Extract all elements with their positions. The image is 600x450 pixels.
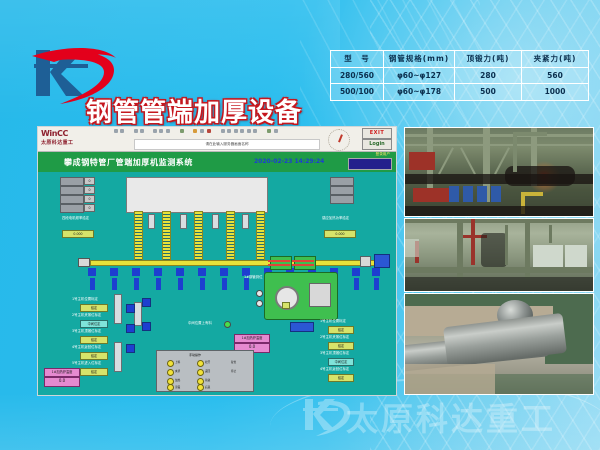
valve-icon-1 <box>126 304 135 313</box>
right-value-4[interactable]: 给定 <box>328 374 354 382</box>
help-icon[interactable] <box>274 129 278 133</box>
roller-7 <box>220 268 228 276</box>
toolbar-sep <box>174 129 177 133</box>
page-title: 钢管管端加厚设备 <box>86 92 302 129</box>
new-icon[interactable] <box>114 129 118 133</box>
power-label-box-3 <box>330 195 354 204</box>
valve-icon-3 <box>126 344 135 353</box>
login-button[interactable]: Login <box>362 139 392 150</box>
roller-stand-14 <box>374 278 379 290</box>
table-icon[interactable] <box>227 129 231 133</box>
clamp-cylinder <box>290 322 314 332</box>
coil-cylinder-3 <box>212 214 219 229</box>
slide-page: 钢管管端加厚设备 型 号 钢管规格(mm) 顶锻力(吨) 夹紧力(吨) 280/… <box>0 0 600 450</box>
mid-value-3[interactable]: 给定 <box>80 336 108 344</box>
sensor-led-center <box>224 321 231 328</box>
coil-cylinder-4 <box>242 214 249 229</box>
roller-stand-1 <box>90 278 95 290</box>
hmi-toolbar: WinCC 太原科达重工 <box>38 127 396 152</box>
roller-stand-5 <box>178 278 183 290</box>
power-label-box-2 <box>330 186 354 195</box>
zoom-icon[interactable] <box>180 129 184 133</box>
search-icon[interactable] <box>267 129 271 133</box>
induction-coil-1 <box>134 211 143 262</box>
induction-coil-4 <box>226 211 235 262</box>
mid-label-5: 5号主机进入位标定 <box>72 362 101 365</box>
panel-button-10[interactable]: 停止 <box>231 369 236 373</box>
trend-icon[interactable] <box>247 129 251 133</box>
roller-stand-2 <box>112 278 117 290</box>
mid-label-2: 2号主机夹紧位标定 <box>72 314 101 317</box>
freq-value-4[interactable]: 0 <box>84 204 95 212</box>
roller-stand-4 <box>156 278 161 290</box>
clock-icon <box>328 129 350 151</box>
machine-panel <box>309 283 331 307</box>
sensor-led-coil-2 <box>256 300 263 307</box>
panel-led-8[interactable] <box>197 384 204 391</box>
panel-button-7[interactable]: 前进 <box>205 378 210 382</box>
induction-coil-3 <box>194 211 203 262</box>
machine-bar-3 <box>292 260 314 262</box>
right-label-4: 4号主机返回位标定 <box>320 368 349 371</box>
conveyor-rail <box>90 260 376 266</box>
photo-pipe-closeup <box>404 293 594 395</box>
roller-4 <box>154 268 162 276</box>
panel-button-3[interactable]: 加热 <box>175 378 180 382</box>
report-icon[interactable] <box>253 129 257 133</box>
address-input[interactable]: 请在此输入服务器画面名称 <box>134 139 320 150</box>
mid-value-1[interactable]: 给定 <box>80 304 108 312</box>
forward-icon[interactable] <box>159 129 163 133</box>
mid-value-5[interactable]: 给定 <box>80 368 108 376</box>
photo-production-line <box>404 127 594 217</box>
col-header-upset-force: 顶锻力(吨) <box>455 51 522 68</box>
mid-label-1: 1号主机位置标定 <box>72 298 98 301</box>
panel-led-4[interactable] <box>167 384 174 391</box>
hmi-process-view: 四段电机频率给定 0 0 0 0 0.000 感应加热功率给定 0.000 <box>38 172 396 396</box>
induction-coil-2 <box>162 211 171 262</box>
cylinder-1 <box>114 294 122 324</box>
roller-stand-8 <box>244 278 249 290</box>
login-user-field[interactable] <box>348 158 392 170</box>
panel-button-6[interactable]: 返回 <box>205 369 210 373</box>
panel-button-2[interactable]: 夹紧 <box>175 369 180 373</box>
toolbar-sep <box>147 129 150 133</box>
panel-led-2[interactable] <box>167 369 174 376</box>
freq-value-1[interactable]: 0 <box>84 177 95 185</box>
cell-pipe-spec: φ60~φ178 <box>384 84 455 101</box>
sensor-label-center: 中间位置上有料 <box>188 322 212 325</box>
col-header-pipe-spec: 钢管规格(mm) <box>384 51 455 68</box>
left-group-label: 四段电机频率给定 <box>62 217 89 220</box>
cell-model: 500/100 <box>331 84 384 101</box>
cell-clamp-force: 560 <box>522 67 589 84</box>
inlet-valve-icon <box>78 258 90 267</box>
col-header-clamp-force: 夹紧力(吨) <box>522 51 589 68</box>
heater-label-left: 1#加热炉温度 <box>44 368 80 377</box>
grid-icon[interactable] <box>221 129 225 133</box>
wincc-company-name: 太原科达重工 <box>41 139 109 146</box>
machine-bar-4 <box>292 264 314 266</box>
toolbar-icon-strip[interactable] <box>114 129 314 137</box>
roller-stand-7 <box>222 278 227 290</box>
freq-label-box-2 <box>60 186 84 195</box>
mid-value-4[interactable]: 给定 <box>80 352 108 360</box>
panel-led-6[interactable] <box>197 369 204 376</box>
back-icon[interactable] <box>153 129 157 133</box>
user-icon[interactable] <box>207 129 211 133</box>
photo-image-3 <box>405 294 593 394</box>
roller-1 <box>88 268 96 276</box>
mid-label-3: 3号主机顶锻位标定 <box>72 330 101 333</box>
roller-14 <box>372 268 380 276</box>
right-value-3[interactable]: 中间位定 <box>328 358 354 366</box>
mid-value-2[interactable]: 中间位定 <box>80 320 108 328</box>
manual-operation-panel: 手动操作 上料 夹紧 加热 顶锻 松开 返回 前进 后退 复位 停止 <box>156 350 254 392</box>
panel-led-1[interactable] <box>167 360 174 367</box>
heater-value-left[interactable]: 0.0 <box>44 377 80 387</box>
save-icon[interactable] <box>134 129 138 133</box>
freq-label-box-3 <box>60 195 84 204</box>
chart-icon[interactable] <box>234 129 238 133</box>
open-icon[interactable] <box>120 129 124 133</box>
panel-button-5[interactable]: 松开 <box>205 360 210 364</box>
roller-stand-13 <box>354 278 359 290</box>
toolbar-sep <box>261 129 264 133</box>
coil-cylinder-1 <box>148 214 155 229</box>
table-header-row: 型 号 钢管规格(mm) 顶锻力(吨) 夹紧力(吨) <box>331 51 589 68</box>
cylinder-2 <box>114 342 122 372</box>
alarm-icon[interactable] <box>240 129 244 133</box>
roller-stand-3 <box>134 278 139 290</box>
photo-image-2 <box>405 219 593 291</box>
machine-block-2 <box>294 256 316 270</box>
machine-small-value[interactable] <box>282 302 290 309</box>
panel-title: 手动操作 <box>189 353 201 357</box>
right-label-2: 2号主机夹紧位标定 <box>320 336 349 339</box>
cell-model: 280/560 <box>331 67 384 84</box>
induction-coil-5 <box>256 211 265 262</box>
hmi-screenshot: WinCC 太原科达重工 <box>37 126 397 396</box>
refresh-icon[interactable] <box>166 129 170 133</box>
photo-machine-hall <box>404 218 594 292</box>
hmi-title-bar: 攀成钢特管厂管端加厚机监测系统 2020-02-23 14:29:24 登录用户 <box>38 152 396 172</box>
watermark: 太原科达重工 <box>300 392 600 440</box>
sensor-led-coil-1 <box>256 290 263 297</box>
hmi-timestamp: 2020-02-23 14:29:24 <box>254 158 324 165</box>
upsetting-machine <box>264 272 338 320</box>
machine-bar-1 <box>268 260 290 262</box>
freq-value-2[interactable]: 0 <box>84 186 95 194</box>
watermark-text: 太原科达重工 <box>346 394 556 440</box>
photo-image-1 <box>405 128 593 216</box>
valve-icon-2 <box>126 324 135 333</box>
cylinder-3 <box>134 302 142 326</box>
login-user-label: 登录用户 <box>376 152 390 157</box>
valve-icon-5 <box>142 322 151 331</box>
power-label-box-1 <box>330 177 354 186</box>
drive-motor-icon <box>374 254 390 268</box>
panel-button-8[interactable]: 后退 <box>205 385 210 389</box>
gearbox-icon <box>360 256 371 267</box>
panel-button-1[interactable]: 上料 <box>175 360 180 364</box>
right-value-1[interactable]: 给定 <box>328 326 354 334</box>
print-icon[interactable] <box>140 129 144 133</box>
coil-cylinder-2 <box>180 214 187 229</box>
toolbar-sep <box>214 129 217 133</box>
wincc-product-name: WinCC <box>41 129 109 138</box>
col-header-model: 型 号 <box>331 51 384 68</box>
kd-watermark-icon <box>300 394 352 436</box>
bold-icon[interactable] <box>193 129 197 133</box>
roller-13 <box>352 268 360 276</box>
panel-button-4[interactable]: 顶锻 <box>175 385 180 389</box>
right-label-3: 3号主机顶锻位标定 <box>320 352 349 355</box>
sensor-label-pipe: 1#钢管到位 <box>244 276 263 279</box>
cell-clamp-force: 1000 <box>522 84 589 101</box>
cell-upset-force: 500 <box>455 84 522 101</box>
wincc-logo: WinCC 太原科达重工 <box>41 129 109 149</box>
heater-label-mid: 1#加热炉温度 <box>234 334 270 343</box>
machine-block-1 <box>270 256 292 270</box>
cell-upset-force: 280 <box>455 67 522 84</box>
power-value[interactable]: 0.000 <box>324 230 356 238</box>
roller-5 <box>176 268 184 276</box>
furnace-housing <box>126 177 268 213</box>
panel-led-5[interactable] <box>197 360 204 367</box>
machine-bar-2 <box>268 264 290 266</box>
right-value-2[interactable]: 给定 <box>328 342 354 350</box>
roller-2 <box>110 268 118 276</box>
exit-button[interactable]: EXIT <box>362 128 392 139</box>
freq-label-box-4 <box>60 204 84 213</box>
right-label-1: 1号主机位置标定 <box>320 320 346 323</box>
hmi-system-title: 攀成钢特管厂管端加厚机监测系统 <box>64 157 193 168</box>
align-icon[interactable] <box>200 129 204 133</box>
mid-label-4: 4号主机返回位标定 <box>72 346 101 349</box>
toolbar-sep <box>127 129 130 133</box>
cell-pipe-spec: φ60~φ127 <box>384 67 455 84</box>
table-row: 500/100 φ60~φ178 500 1000 <box>331 84 589 101</box>
panel-button-9[interactable]: 复位 <box>231 360 236 364</box>
freq-speed-value[interactable]: 0.000 <box>62 230 94 238</box>
freq-label-box-1 <box>60 177 84 186</box>
table-row: 280/560 φ60~φ127 280 560 <box>331 67 589 84</box>
spec-table: 型 号 钢管规格(mm) 顶锻力(吨) 夹紧力(吨) 280/560 φ60~φ… <box>330 50 589 101</box>
freq-value-3[interactable]: 0 <box>84 195 95 203</box>
valve-icon-4 <box>142 298 151 307</box>
roller-3 <box>132 268 140 276</box>
right-group-label: 感应加热功率给定 <box>322 217 349 220</box>
toolbar-sep <box>187 129 190 133</box>
roller-stand-6 <box>200 278 205 290</box>
roller-6 <box>198 268 206 276</box>
